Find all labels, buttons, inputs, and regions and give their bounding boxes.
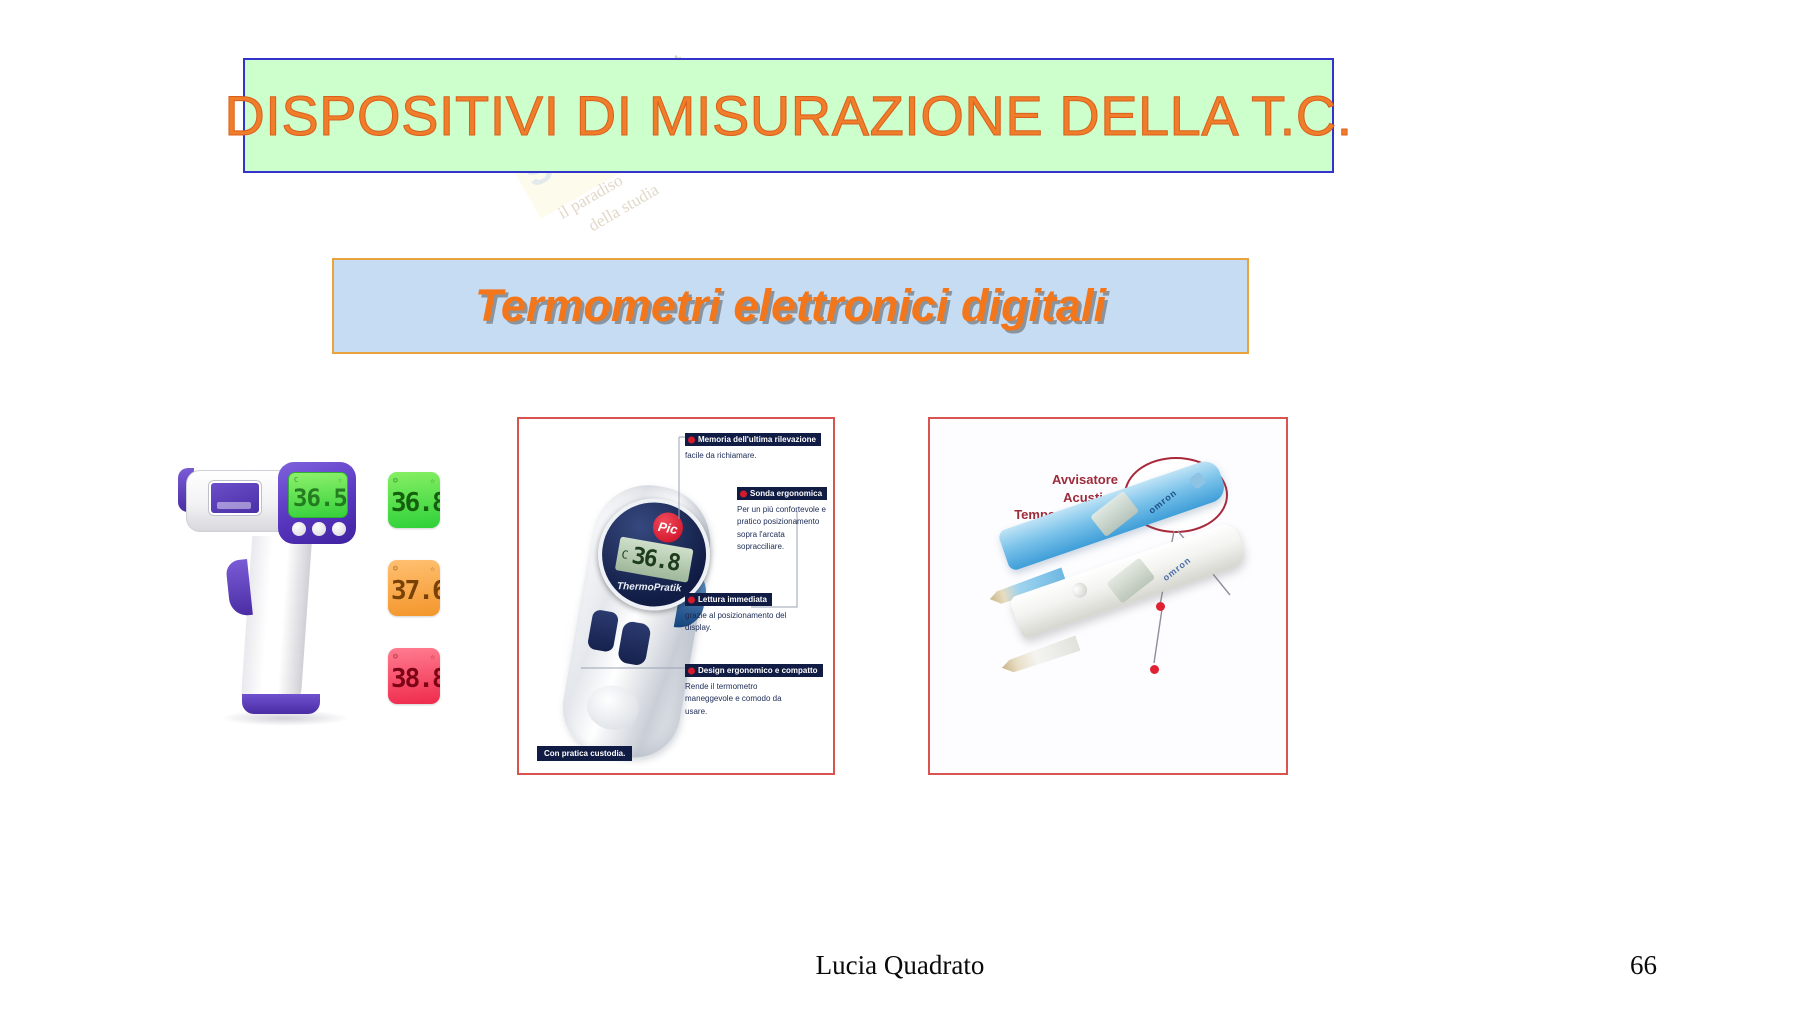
blue-brand: omron: [1147, 487, 1179, 515]
infrared-gun-illustration: C ☆ 36.5 ☺ ☆ 36.8 ☺ ☆ 37.6: [150, 440, 450, 740]
swatch-icon-right: ☆: [430, 652, 435, 661]
gun-sensor-window: [209, 481, 261, 515]
page-number: 66: [1630, 950, 1657, 981]
title-box: DISPOSITIVI DI MISURAZIONE DELLA T.C.: [243, 58, 1334, 173]
omron-hotspot-blue: [1156, 602, 1165, 611]
subtitle-box: Termometri elettronici digitali: [332, 258, 1249, 354]
callout-body: grazie al posizionamento del display.: [685, 610, 797, 635]
white-lcd: [1106, 557, 1155, 603]
figure-infrared-thermometer: C ☆ 36.5 ☺ ☆ 36.8 ☺ ☆ 37.6: [150, 440, 450, 740]
blue-button: [1189, 471, 1207, 489]
swatch-icon-right: ☆: [430, 476, 435, 485]
swatch-icon-right: ☆: [430, 564, 435, 573]
footer-author: Lucia Quadrato: [0, 950, 1800, 981]
display-swatch-red: ☺ ☆ 38.8: [388, 648, 440, 704]
gun-display-icon: ☆: [338, 476, 342, 484]
callout-body: Rende il termometro maneggevole e comodo…: [685, 681, 797, 718]
omron-hotspot-white: [1150, 665, 1159, 674]
gun-buttons: [292, 522, 346, 536]
white-button: [1069, 580, 1090, 601]
figure-pic-thermopratik: Pic C 36.8 ThermoPratik: [517, 417, 835, 775]
gun-foot: [242, 694, 320, 714]
omron-illustration: Avvisatore Acustico Temperatura alta: [930, 419, 1286, 773]
callout-title: Lettura immediata: [685, 593, 772, 606]
callout-lettura: Lettura immediata grazie al posizionamen…: [685, 589, 797, 635]
svg-text:della studia: della studia: [585, 180, 662, 236]
callout-body: facile da richiamare.: [685, 450, 797, 462]
figure-omron-thermometers: Avvisatore Acustico Temperatura alta: [928, 417, 1288, 775]
callout-title: Sonda ergonomica: [737, 487, 827, 500]
gun-button-1: [292, 522, 306, 536]
page-title: DISPOSITIVI DI MISURAZIONE DELLA T.C.: [224, 83, 1352, 148]
gun-display: C ☆ 36.5: [288, 472, 348, 518]
white-brand: omron: [1161, 555, 1193, 583]
svg-text:il paradiso: il paradiso: [555, 171, 626, 223]
gun-display-unit: C: [294, 476, 298, 484]
gun-button-2: [312, 522, 326, 536]
blue-lcd: [1090, 491, 1139, 537]
gun-grip: [240, 536, 312, 714]
swatch-value: 36.8: [391, 488, 440, 518]
pic-bottom-tag: Con pratica custodia.: [537, 746, 632, 761]
pic-ad-illustration: Pic C 36.8 ThermoPratik: [519, 419, 833, 773]
callout-title: Design ergonomico e compatto: [685, 664, 823, 677]
gun-button-3: [332, 522, 346, 536]
callout-body: Per un più confortevole e pratico posizi…: [737, 504, 833, 554]
gun-display-value: 36.5: [293, 484, 347, 512]
callout-title: Memoria dell'ultima rilevazione: [685, 433, 821, 446]
callout-sonda: Sonda ergonomica Per un più confortevole…: [737, 483, 833, 554]
gun-head: C ☆ 36.5: [278, 462, 356, 544]
subtitle-text: Termometri elettronici digitali: [475, 280, 1106, 332]
display-swatch-green: ☺ ☆ 36.8: [388, 472, 440, 528]
swatch-icon-left: ☺: [393, 564, 398, 573]
callout-memoria: Memoria dell'ultima rilevazione facile d…: [685, 429, 821, 462]
swatch-icon-left: ☺: [393, 652, 398, 661]
callout-design: Design ergonomico e compatto Rende il te…: [685, 660, 823, 718]
swatch-value: 37.6: [391, 576, 440, 606]
gun-trigger: [225, 559, 253, 617]
display-swatch-orange: ☺ ☆ 37.6: [388, 560, 440, 616]
slide-root: skuola .net il paradiso della studia DIS…: [0, 0, 1800, 1013]
swatch-icon-left: ☺: [393, 476, 398, 485]
swatch-value: 38.8: [391, 664, 440, 694]
